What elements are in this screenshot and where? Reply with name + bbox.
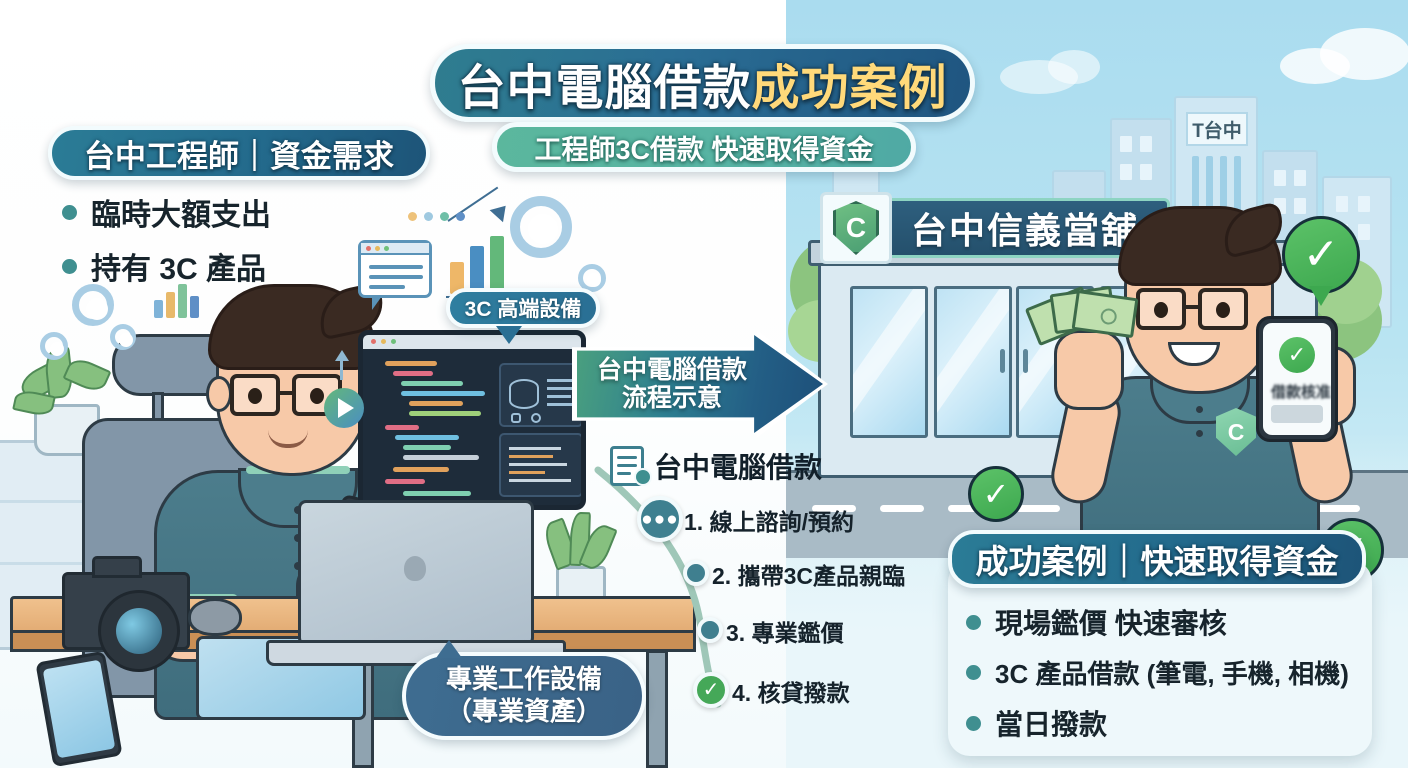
success-card-badge-text: 成功案例｜快速取得資金 <box>976 535 1339 583</box>
gear-hole <box>119 333 133 347</box>
polo-button <box>1196 406 1203 413</box>
decor-dot <box>408 212 417 221</box>
banknote <box>1072 290 1139 338</box>
process-arrow-line1: 台中電腦借款 <box>583 356 761 384</box>
code-line <box>403 491 471 496</box>
building-window <box>1274 170 1286 186</box>
success-bullet-label: 現場鑑價 快速審核 <box>995 602 1227 642</box>
bullet-dot-icon <box>966 716 981 731</box>
building-window <box>1336 196 1348 212</box>
building-window <box>1358 224 1370 240</box>
chat-window-icon <box>358 240 432 298</box>
banknote-seal <box>1100 308 1118 326</box>
shop-window <box>850 286 928 438</box>
chat-line <box>369 285 405 289</box>
chat-window-tail <box>372 296 382 310</box>
step-number: 2. <box>712 563 731 589</box>
shop-logo-letter: C <box>846 212 866 244</box>
code-line <box>401 381 463 386</box>
staff-badge-letter: C <box>1228 419 1245 446</box>
left-panel-bullets: 臨時大額支出 持有 3C 產品 <box>62 190 271 288</box>
left-bullet-label: 持有 3C 產品 <box>91 244 266 288</box>
gear-hole <box>528 214 558 244</box>
step-label: 3. 專業鑑價 <box>726 614 844 648</box>
process-arrow-label: 台中電腦借款 流程示意 <box>583 356 761 412</box>
decor-dot <box>456 212 465 221</box>
code-line <box>401 391 485 396</box>
road-dash <box>1316 505 1360 512</box>
approval-phone-screen: ✓ 借款核准 <box>1263 323 1331 435</box>
page-title: 台中電腦借款成功案例 <box>430 44 975 122</box>
bullet-dot-icon <box>62 259 77 274</box>
desk-tag-line2: （專業資產） <box>446 696 602 728</box>
building-window <box>1140 164 1152 180</box>
window-dot <box>371 339 376 344</box>
chart-bar <box>178 284 187 318</box>
process-list-title: 台中電腦借款 <box>654 446 822 486</box>
list-item: 當日撥款 <box>966 703 1349 743</box>
step-text: 線上諮詢/預約 <box>710 509 854 535</box>
check-badge: ✓ <box>1282 216 1360 294</box>
monitor-chart-panel <box>499 363 583 427</box>
engineer-eye <box>310 388 324 404</box>
building-window <box>1294 170 1306 186</box>
building-window <box>1294 198 1306 214</box>
page-title-main: 台中電腦借款 <box>457 48 751 118</box>
camera-glass <box>116 608 162 654</box>
cloud-icon <box>1280 48 1350 84</box>
glasses-bridge <box>1184 305 1200 309</box>
step-text: 攜帶3C產品親臨 <box>738 563 905 589</box>
equipment-tag-tail <box>496 326 522 344</box>
check-badge: ✓ <box>968 466 1024 522</box>
decor-dot <box>424 212 433 221</box>
monitor-log-panel <box>499 433 583 497</box>
computer-mouse <box>188 598 242 636</box>
desk-equipment-tag-tail <box>436 640 462 658</box>
document-line <box>617 464 637 467</box>
chat-line <box>369 265 423 269</box>
code-line <box>393 371 433 376</box>
code-line <box>385 425 419 430</box>
shop-sign-text: 台中信義當舖 <box>911 202 1139 254</box>
step-label: 1. 線上諮詢/預約 <box>684 503 854 537</box>
phone-placeholder-strip <box>1271 405 1323 423</box>
left-panel-badge: 台中工程師｜資金需求 <box>48 126 430 180</box>
bullet-dot-icon <box>62 205 77 220</box>
success-card-bullets: 現場鑑價 快速審核 3C 產品借款 (筆電, 手機, 相機) 當日撥款 <box>966 602 1349 743</box>
phone-check-icon: ✓ <box>1279 337 1315 373</box>
document-badge-icon <box>634 468 652 486</box>
chat-icon: ●●● <box>641 510 678 529</box>
step-number: 3. <box>726 620 745 646</box>
cloud-icon <box>1048 50 1100 84</box>
success-bullet-label: 當日撥款 <box>995 703 1107 743</box>
building-sign: T台中 <box>1186 112 1248 146</box>
page-title-highlight: 成功案例 <box>752 48 948 118</box>
building-window <box>1120 136 1132 152</box>
building-sign-text: T台中 <box>1192 116 1242 143</box>
check-glyph: ✓ <box>703 680 720 700</box>
apple-logo-icon <box>404 556 426 581</box>
code-line <box>403 445 451 450</box>
window-dot <box>391 339 396 344</box>
step-number: 1. <box>684 509 703 535</box>
list-item: 3C 產品借款 (筆電, 手機, 相機) <box>966 654 1349 691</box>
code-line <box>409 411 481 416</box>
road-dash <box>1016 505 1060 512</box>
up-arrow-head-icon <box>335 350 349 361</box>
desk-tag-line1: 專業工作設備 <box>446 664 602 696</box>
chart-bar <box>166 292 175 318</box>
up-arrow-icon <box>340 358 343 380</box>
bullet-dot-icon <box>966 665 981 680</box>
code-line <box>409 401 463 406</box>
step-text: 專業鑑價 <box>752 620 844 646</box>
list-item: 持有 3C 產品 <box>62 244 271 288</box>
check-glyph: ✓ <box>1288 344 1306 366</box>
decor-dot <box>375 246 380 251</box>
list-item: 現場鑑價 快速審核 <box>966 602 1349 642</box>
staff-eye <box>1216 302 1230 318</box>
step-text: 核貸撥款 <box>758 680 850 706</box>
equipment-tag: 3C 高端設備 <box>446 288 600 328</box>
gear-hole <box>50 342 64 356</box>
success-bullet-label: 3C 產品借款 (筆電, 手機, 相機) <box>995 654 1349 691</box>
chat-line <box>369 275 423 279</box>
step-label: 4. 核貸撥款 <box>732 674 850 708</box>
code-line <box>385 479 425 484</box>
step-node-dot <box>697 617 723 643</box>
building-window <box>1120 164 1132 180</box>
document-line <box>617 456 637 459</box>
gear-hole <box>587 273 601 287</box>
polo-button <box>1196 430 1203 437</box>
shop-logo-plate: C <box>820 192 892 264</box>
window-dot <box>381 339 386 344</box>
left-panel-badge-text: 台中工程師｜資金需求 <box>84 131 394 176</box>
list-item: 臨時大額支出 <box>62 190 271 234</box>
staff-eye <box>1154 302 1168 318</box>
page-subtitle-text: 工程師3C借款 快速取得資金 <box>534 128 873 167</box>
chart-bar <box>154 300 163 318</box>
code-line <box>403 455 479 460</box>
check-badge-tail <box>1309 286 1333 306</box>
engineer-eye <box>248 388 262 404</box>
road-dash <box>880 505 924 512</box>
decor-dot <box>366 246 371 251</box>
step-node-check: ✓ <box>693 672 729 708</box>
left-bullet-label: 臨時大額支出 <box>91 190 271 234</box>
page-subtitle: 工程師3C借款 快速取得資金 <box>492 122 916 172</box>
building-window <box>1358 196 1370 212</box>
building-window <box>1140 136 1152 152</box>
equipment-tag-text: 3C 高端設備 <box>465 293 582 323</box>
shop-door <box>934 286 1012 438</box>
infographic-canvas: T台中 台中信義當舖 <box>0 0 1408 768</box>
camera-top <box>92 556 142 578</box>
step-node-chat: ●●● <box>637 496 683 542</box>
gear-hole <box>86 298 108 320</box>
play-triangle-icon <box>338 398 354 418</box>
code-line <box>395 435 459 440</box>
chart-bar <box>490 236 504 294</box>
shield-icon: C <box>833 201 879 255</box>
phone-status-text: 借款核准 <box>1271 381 1331 402</box>
desktop-monitor <box>358 330 586 510</box>
chart-bar <box>470 246 484 294</box>
code-line <box>385 361 437 366</box>
engineer-ear <box>206 376 232 412</box>
step-number: 4. <box>732 680 751 706</box>
document-line <box>617 472 631 475</box>
check-glyph: ✓ <box>1303 233 1340 277</box>
check-glyph: ✓ <box>983 478 1010 510</box>
step-label: 2. 攜帶3C產品親臨 <box>712 557 905 591</box>
chart-bar <box>190 296 199 318</box>
bullet-dot-icon <box>966 615 981 630</box>
success-card-badge: 成功案例｜快速取得資金 <box>948 530 1366 588</box>
staff-hand-money <box>1054 330 1124 410</box>
glasses-bridge <box>278 391 294 395</box>
process-arrow-line2: 流程示意 <box>583 384 761 412</box>
decor-dot <box>384 246 389 251</box>
code-line <box>393 467 449 472</box>
step-node-dot <box>683 560 709 586</box>
decor-dot <box>440 212 449 221</box>
